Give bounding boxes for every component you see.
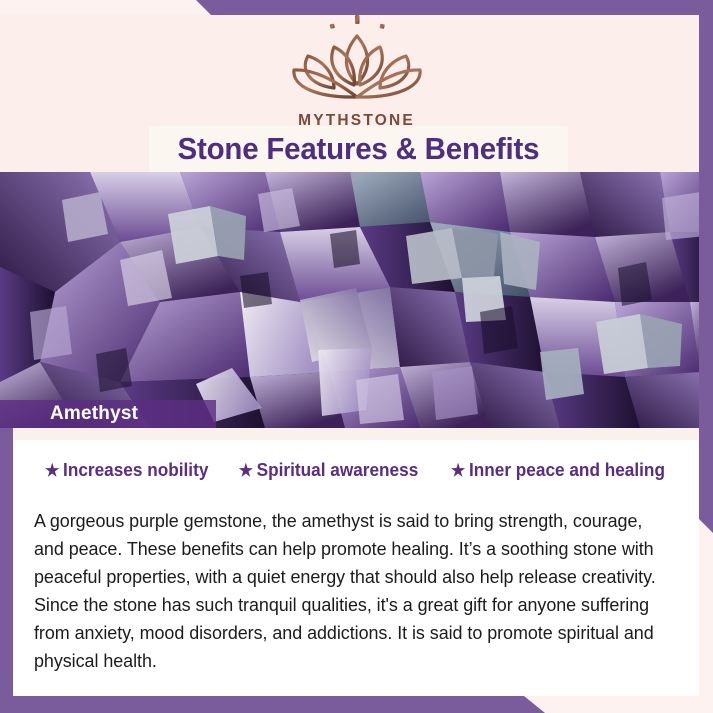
page-title: Stone Features & Benefits — [178, 131, 540, 167]
frame-right-bar — [699, 0, 713, 533]
benefits-list: ★ Increases nobility ★ Spiritual awarene… — [13, 459, 699, 481]
benefit-label-1: Increases nobility — [63, 459, 208, 481]
panel-top-strip — [13, 428, 699, 440]
star-icon: ★ — [451, 462, 465, 479]
benefit-item-2: ★ Spiritual awareness — [239, 459, 419, 481]
description-text: A gorgeous purple gemstone, the amethyst… — [34, 507, 672, 675]
description-panel: ★ Increases nobility ★ Spiritual awarene… — [13, 428, 699, 696]
lotus-flower-icon — [0, 14, 713, 111]
star-icon: ★ — [45, 462, 59, 479]
stone-info-card: MYTHSTONE Stone Features & Benefits — [0, 0, 713, 713]
benefit-label-3: Inner peace and healing — [469, 459, 665, 481]
frame-bottom-bar — [0, 696, 713, 713]
benefit-label-2: Spiritual awareness — [257, 459, 419, 481]
brand-logo: MYTHSTONE — [0, 14, 713, 130]
amethyst-crystal-photo — [0, 172, 713, 428]
benefit-item-1: ★ Increases nobility — [45, 459, 208, 481]
stone-name-banner: Amethyst — [0, 400, 216, 428]
frame-left-bar — [0, 428, 13, 713]
stone-name: Amethyst — [50, 403, 138, 425]
title-band: Stone Features & Benefits — [149, 126, 568, 172]
benefit-item-3: ★ Inner peace and healing — [451, 459, 665, 481]
star-icon: ★ — [239, 462, 253, 479]
